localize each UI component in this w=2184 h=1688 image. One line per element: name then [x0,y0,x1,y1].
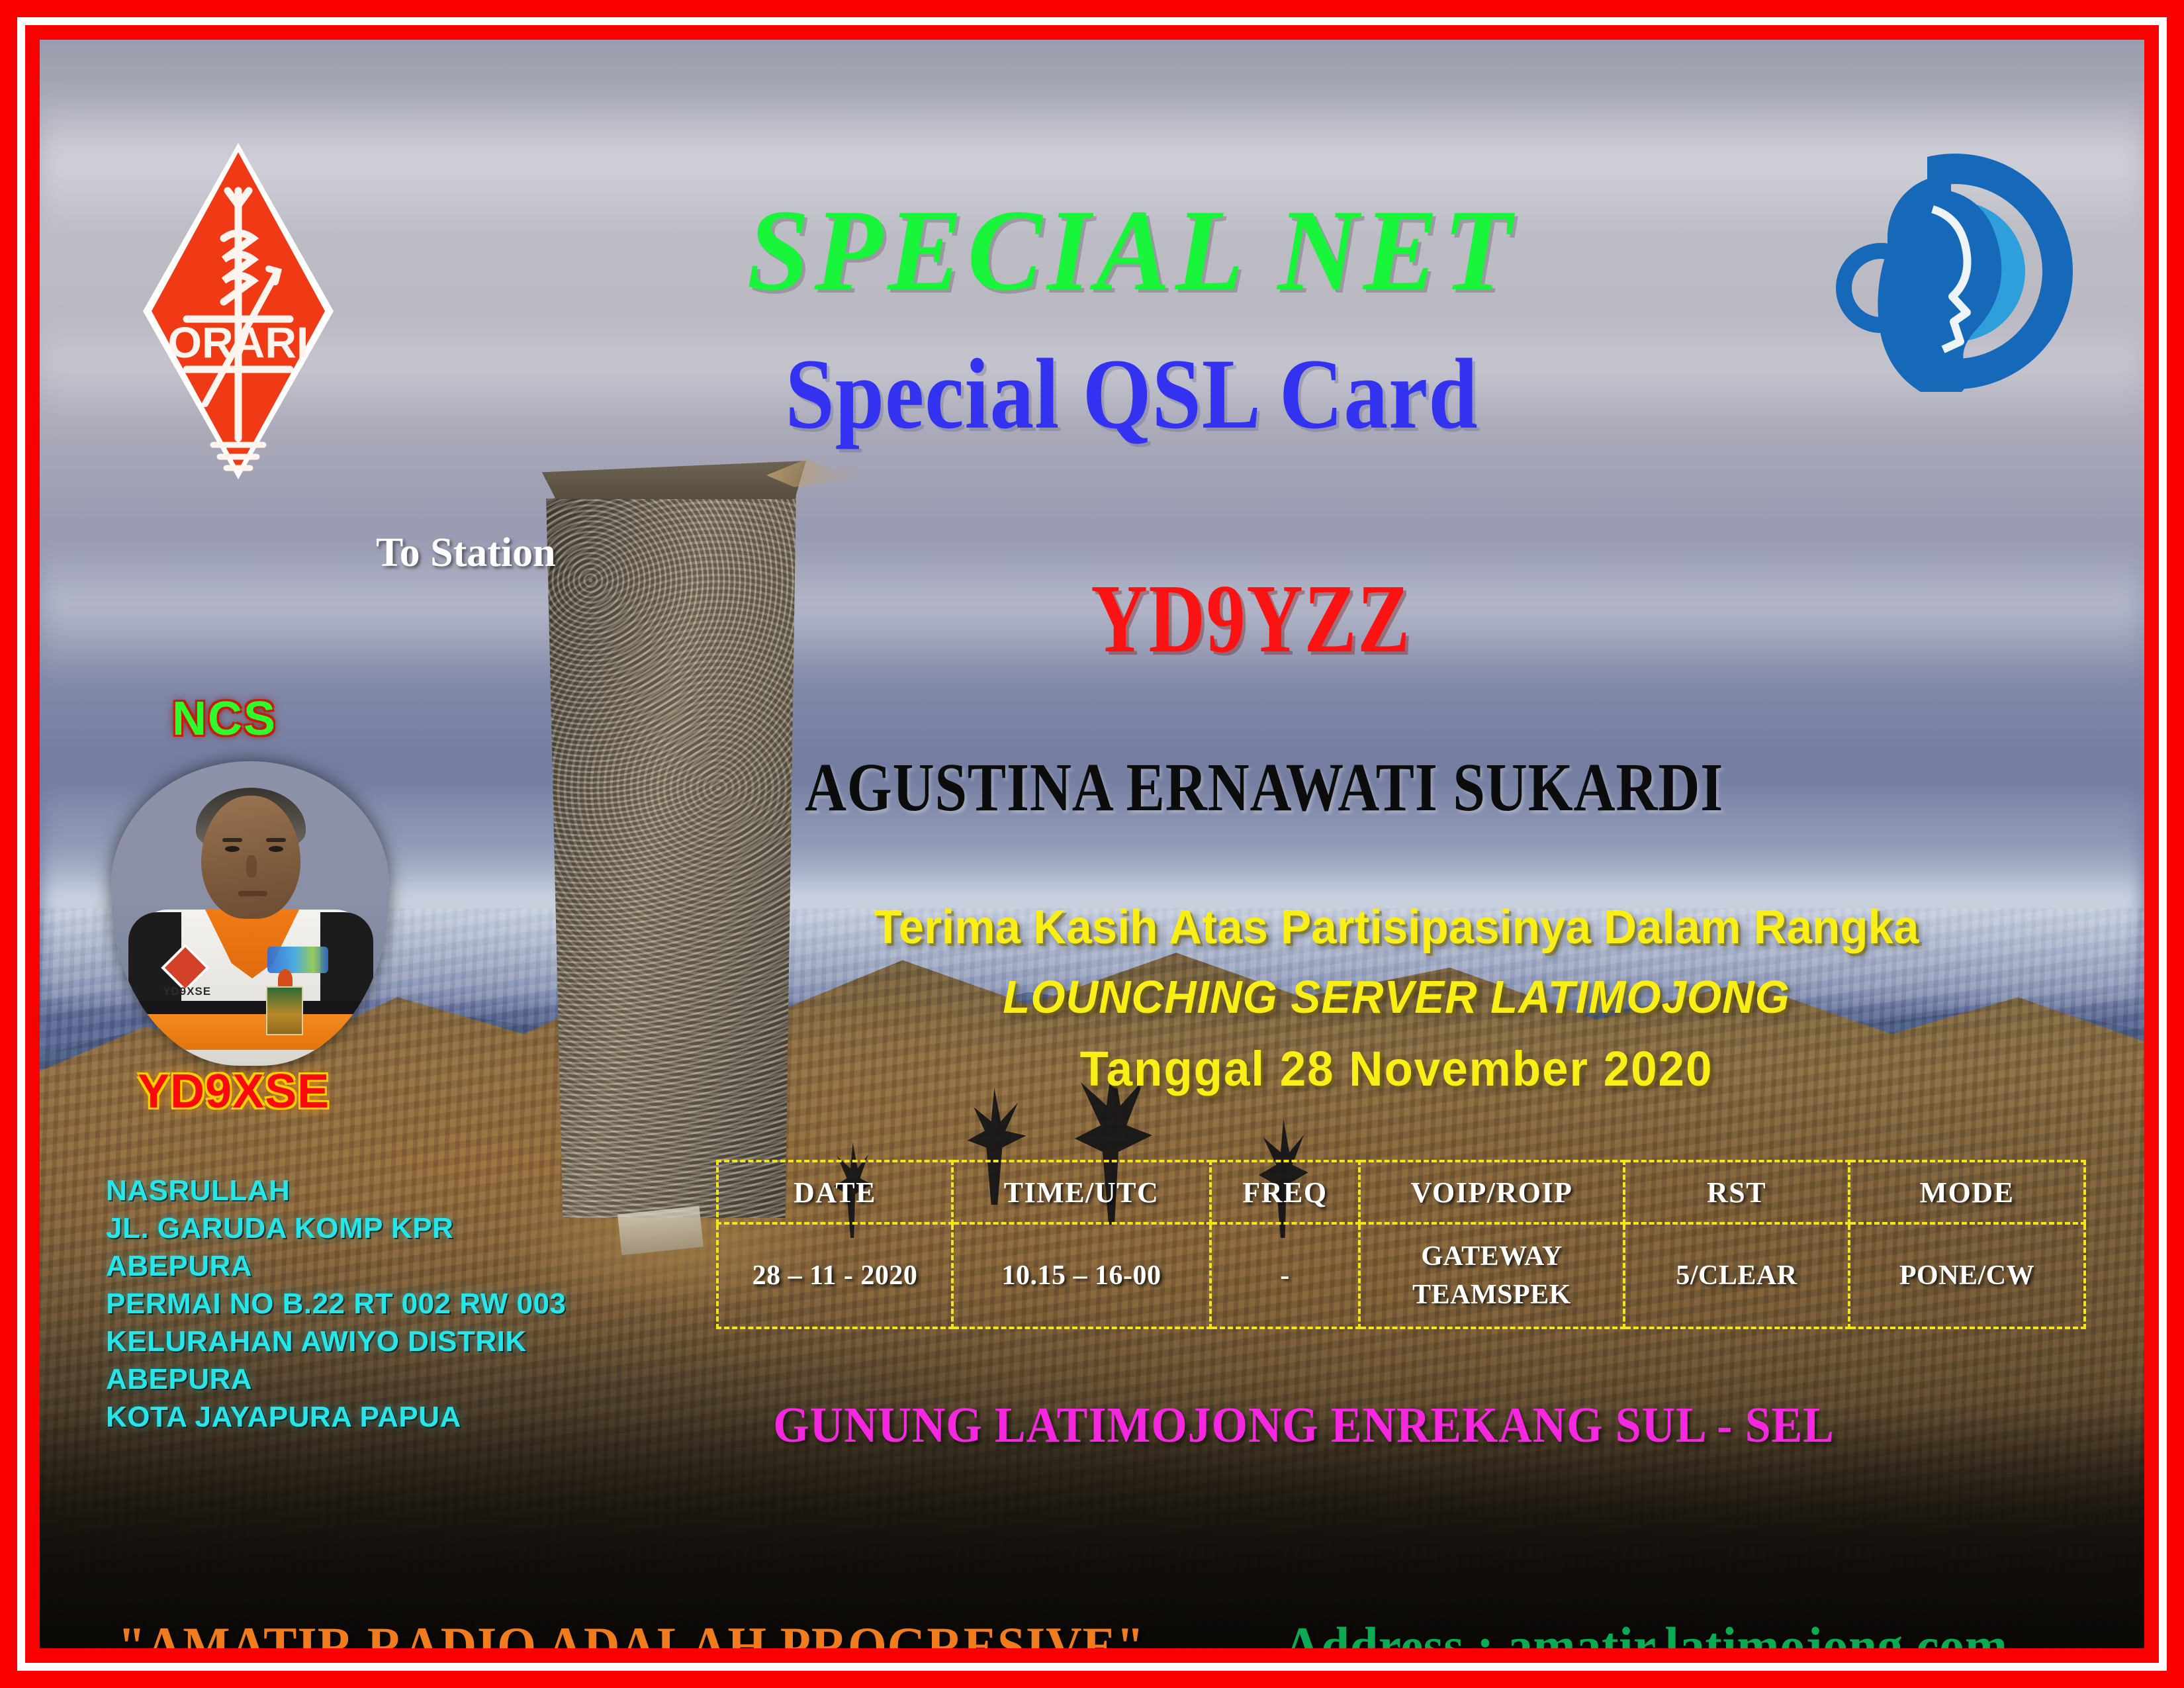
address-line: ABEPURA [106,1360,649,1398]
table-row: 28 – 11 - 2020 10.15 – 16-00 - GATEWAY T… [717,1223,2085,1328]
recipient-operator-name: AGUSTINA ERNAWATI SUKARDI [736,748,1792,827]
sender-address-block: NASRULLAH JL. GARUDA KOMP KPR ABEPURA PE… [106,1172,649,1436]
card-subtitle-qsl: Special QSL Card [171,336,2093,451]
stone-cairn-pillar [529,477,807,1218]
ncs-callsign: YD9XSE [138,1064,330,1119]
address-line: PERMAI NO B.22 RT 002 RW 003 [106,1285,649,1323]
location-caption: GUNUNG LATIMOJONG ENREKANG SUL - SEL [725,1397,1882,1454]
photo-nose [246,855,257,878]
photo-eye [225,846,240,852]
recipient-callsign: YD9YZZ [854,563,1648,675]
event-date-line: Tanggal 28 November 2020 [742,1041,2051,1097]
td-rst: 5/CLEAR [1624,1223,1849,1328]
footer-web-address: Address : amatir.latimojong.com [1284,1615,2008,1648]
th-mode: MODE [1849,1161,2085,1223]
td-freq: - [1210,1223,1359,1328]
td-time-utc: 10.15 – 16-00 [952,1223,1210,1328]
th-time-utc: TIME/UTC [952,1161,1210,1223]
th-rst: RST [1624,1161,1849,1223]
photo-sash [138,1014,367,1050]
ncs-operator-photo: YD9XSE [111,761,389,1066]
event-title-line: LOUNCHING SERVER LATIMOJONG [742,970,2051,1023]
th-freq: FREQ [1210,1161,1359,1223]
th-voip-roip: VOIP/ROIP [1359,1161,1624,1223]
qso-details-table: DATE TIME/UTC FREQ VOIP/ROIP RST MODE 28… [716,1160,2086,1329]
photo-shirt-callsign: YD9XSE [163,985,211,998]
td-voip-roip-line2: TEAMSPEK [1361,1276,1623,1314]
address-line: NASRULLAH [106,1172,649,1209]
qsl-card-outer-frame: ORARI NCS YD9XSE [0,0,2184,1688]
address-line: ABEPURA [106,1247,649,1285]
photo-eyebrow [222,838,242,842]
address-line: KELURAHAN AWIYO DISTRIK [106,1323,649,1360]
td-mode: PONE/CW [1849,1223,2085,1328]
ncs-label: NCS [172,692,277,746]
th-date: DATE [717,1161,952,1223]
td-voip-roip: GATEWAY TEAMSPEK [1359,1223,1624,1328]
footer-motto: "AMATIR RADIO ADALAH PROGRESIVE" [118,1615,1145,1648]
td-voip-roip-line1: GATEWAY [1361,1237,1623,1276]
card-title-special-net: SPECIAL NET [83,184,2144,318]
photo-eyebrow [266,838,286,842]
card-inner-red-frame: ORARI NCS YD9XSE [25,25,2159,1663]
event-thanks-line: Terima Kasih Atas Partisipasinya Dalam R… [742,900,2051,955]
table-header-row: DATE TIME/UTC FREQ VOIP/ROIP RST MODE [717,1161,2085,1223]
to-station-label: To Station [376,530,556,577]
photo-id-card [266,986,303,1035]
photo-mouth [238,891,267,896]
address-line: KOTA JAYAPURA PAPUA [106,1398,649,1436]
card-photo-background: ORARI NCS YD9XSE [40,40,2144,1648]
td-date: 28 – 11 - 2020 [717,1223,952,1328]
card-white-gap: ORARI NCS YD9XSE [17,17,2167,1671]
photo-chest-emblem [267,947,328,973]
photo-eye [269,846,283,852]
address-line: JL. GARUDA KOMP KPR [106,1209,649,1247]
